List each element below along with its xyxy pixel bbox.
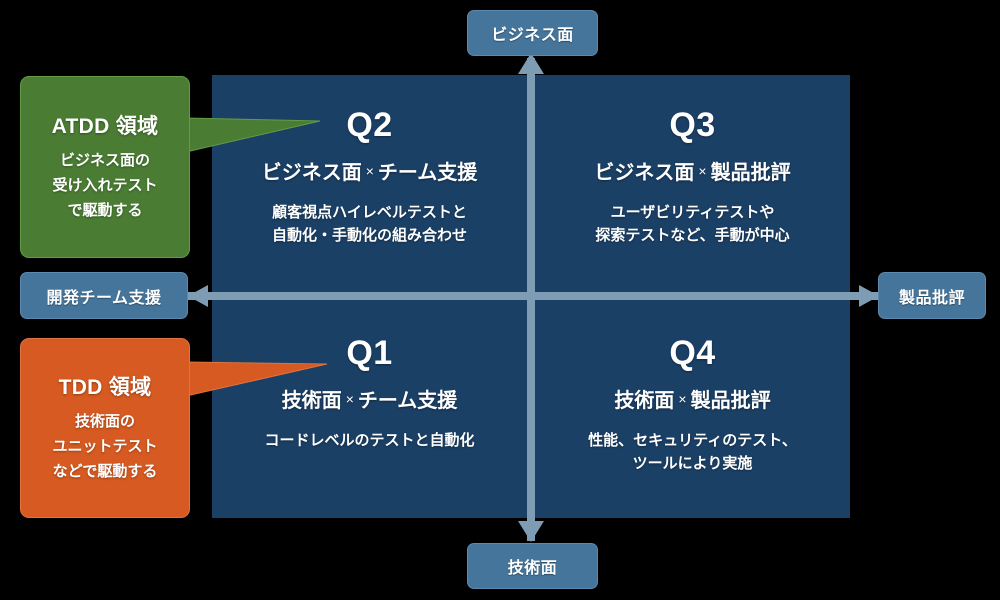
quadrant-q4[interactable]: Q4 技術面×製品批評 性能、セキュリティのテスト、 ツールにより実施 [535,300,850,518]
callout-atdd[interactable]: ATDD 領域 ビジネス面の 受け入れテスト で駆動する [20,76,190,258]
quadrant-q1-desc-line1: コードレベルのテストと自動化 [212,429,527,452]
quadrant-q2-title: ビジネス面×チーム支援 [212,161,527,185]
axis-label-critique-product[interactable]: 製品批評 [878,272,986,319]
quadrant-q2-title-right: チーム支援 [378,162,477,184]
quadrant-q3[interactable]: Q3 ビジネス面×製品批評 ユーザビリティテストや 探索テストなど、手動が中心 [535,75,850,292]
arrow-down-icon [518,521,544,542]
callout-tdd-line1: 技術面の [52,410,157,435]
quadrant-q4-description: 性能、セキュリティのテスト、 ツールにより実施 [535,429,850,476]
times-separator-icon: × [694,163,710,179]
quadrant-q3-id: Q3 [535,108,850,142]
times-separator-icon: × [342,391,358,407]
quadrant-q1-description: コードレベルのテストと自動化 [212,429,527,452]
arrow-right-icon [859,285,879,307]
callout-atdd-line2: 受け入れテスト [52,174,157,199]
quadrant-q1-title-left: 技術面 [282,390,342,412]
quadrant-q2-id: Q2 [212,108,527,142]
arrow-left-icon [188,285,208,307]
callout-tdd-title: TDD 領域 [59,371,152,401]
callout-tdd[interactable]: TDD 領域 技術面の ユニットテスト などで駆動する [20,338,190,518]
callout-tdd-line2: ユニットテスト [52,435,157,460]
quadrant-q4-title-left: 技術面 [614,390,674,412]
callout-atdd-line1: ビジネス面の [52,149,157,174]
quadrant-q2-desc-line2: 自動化・手動化の組み合わせ [212,224,527,247]
axis-label-technology-text: 技術面 [508,554,558,578]
quadrant-q2[interactable]: Q2 ビジネス面×チーム支援 顧客視点ハイレベルテストと 自動化・手動化の組み合… [212,75,527,292]
quadrant-q3-description: ユーザビリティテストや 探索テストなど、手動が中心 [535,201,850,248]
quadrant-q2-title-left: ビジネス面 [262,162,362,184]
axis-label-technology[interactable]: 技術面 [467,543,598,589]
arrow-up-icon [518,53,544,74]
quadrant-q3-title-right: 製品批評 [711,162,791,184]
axis-label-critique-product-text: 製品批評 [899,284,965,308]
callout-atdd-body: ビジネス面の 受け入れテスト で駆動する [52,149,157,223]
quadrant-q3-desc-line1: ユーザビリティテストや [535,201,850,224]
quadrant-q4-desc-line2: ツールにより実施 [535,452,850,475]
quadrant-q3-title: ビジネス面×製品批評 [535,161,850,185]
quadrant-q4-id: Q4 [535,336,850,370]
callout-atdd-title: ATDD 領域 [52,110,159,140]
callout-atdd-line3: で駆動する [52,199,157,224]
times-separator-icon: × [674,391,690,407]
times-separator-icon: × [362,163,378,179]
callout-tdd-body: 技術面の ユニットテスト などで駆動する [52,410,157,484]
quadrant-q4-title: 技術面×製品批評 [535,389,850,413]
diagram-canvas: ビジネス面 技術面 開発チーム支援 製品批評 Q2 ビジネス面×チーム支援 顧客… [0,0,1000,600]
quadrant-q1[interactable]: Q1 技術面×チーム支援 コードレベルのテストと自動化 [212,300,527,518]
quadrant-q1-title: 技術面×チーム支援 [212,389,527,413]
quadrant-q1-title-right: チーム支援 [358,390,457,412]
axis-label-business[interactable]: ビジネス面 [467,10,598,56]
quadrant-q4-title-right: 製品批評 [691,390,771,412]
quadrant-q1-id: Q1 [212,336,527,370]
vertical-axis-line [527,75,535,518]
callout-tdd-line3: などで駆動する [52,460,157,485]
axis-label-support-team[interactable]: 開発チーム支援 [20,272,188,319]
quadrant-q3-title-left: ビジネス面 [594,162,694,184]
quadrant-q2-description: 顧客視点ハイレベルテストと 自動化・手動化の組み合わせ [212,201,527,248]
axis-label-support-team-text: 開発チーム支援 [46,284,161,308]
quadrant-q2-desc-line1: 顧客視点ハイレベルテストと [212,201,527,224]
quadrant-q3-desc-line2: 探索テストなど、手動が中心 [535,224,850,247]
quadrant-q4-desc-line1: 性能、セキュリティのテスト、 [535,429,850,452]
axis-label-business-text: ビジネス面 [491,21,574,45]
